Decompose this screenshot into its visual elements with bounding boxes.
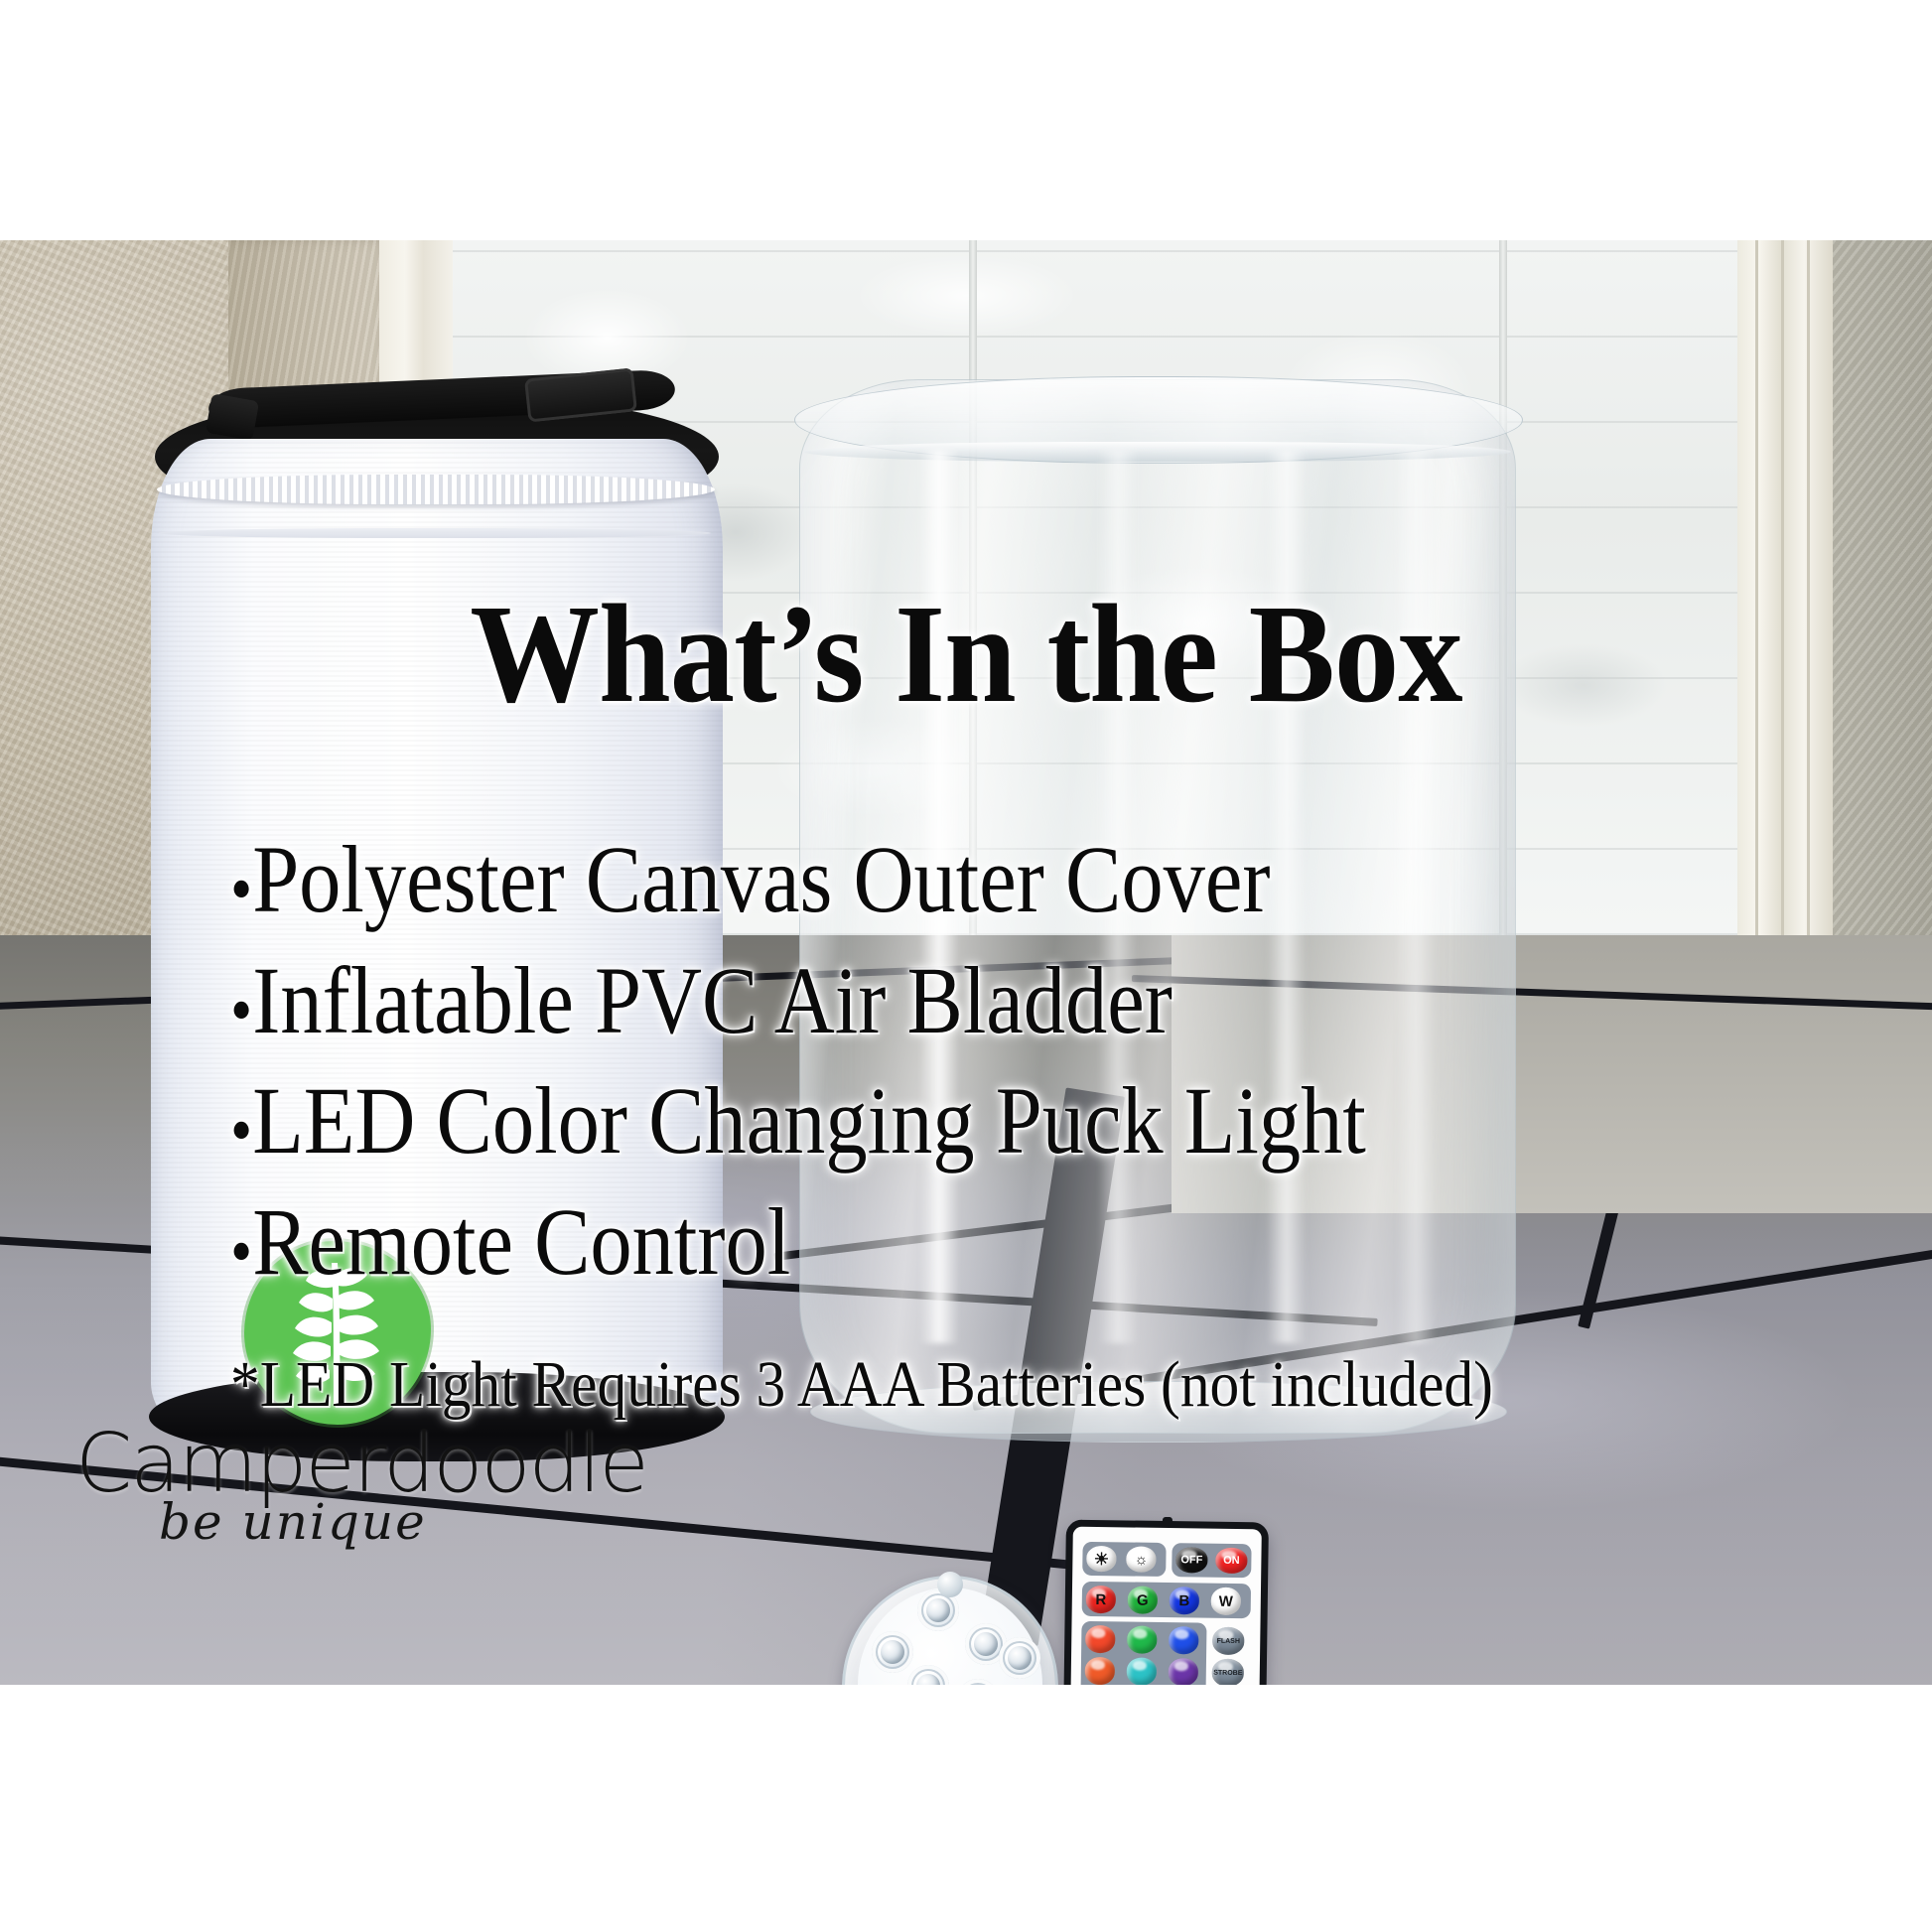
remote-button-color-1-0[interactable] bbox=[1085, 1657, 1115, 1685]
battery-footnote: *LED Light Requires 3 AAA Batteries (not… bbox=[230, 1352, 1660, 1418]
list-item: •Remote Control bbox=[230, 1188, 1593, 1296]
list-item: •LED Color Changing Puck Light bbox=[230, 1067, 1593, 1174]
remote-button-label: B bbox=[1170, 1587, 1199, 1614]
infographic-canvas: ☀☼OFFONRGBWFLASHSTROBEFADESMOOTH bbox=[0, 0, 1932, 1932]
remote-button-color-0-2[interactable] bbox=[1169, 1626, 1198, 1654]
button-gloss bbox=[1174, 1629, 1188, 1639]
button-gloss bbox=[1091, 1660, 1105, 1670]
ir-emitter-icon bbox=[1163, 1517, 1173, 1524]
remote-button-label: R bbox=[1086, 1586, 1116, 1613]
remote-button-on[interactable]: ON bbox=[1215, 1548, 1247, 1574]
list-item: •Inflatable PVC Air Bladder bbox=[230, 947, 1593, 1054]
remote-button-blue[interactable]: B bbox=[1170, 1587, 1199, 1614]
remote-button-label: OFF bbox=[1175, 1547, 1207, 1573]
list-item-label: Remote Control bbox=[252, 1188, 790, 1295]
remote-button-color-0-1[interactable] bbox=[1127, 1625, 1157, 1653]
remote-button-label: ☀ bbox=[1086, 1546, 1116, 1572]
list-item-label: Polyester Canvas Outer Cover bbox=[252, 826, 1270, 932]
remote-button-strobe[interactable]: STROBE bbox=[1212, 1659, 1244, 1685]
bullet-marker: • bbox=[230, 1091, 252, 1171]
remote-button-label: STROBE bbox=[1212, 1659, 1244, 1685]
product-photo: ☀☼OFFONRGBWFLASHSTROBEFADESMOOTH bbox=[0, 240, 1932, 1685]
remote-button-label: G bbox=[1128, 1586, 1158, 1613]
brand-tagline: be unique bbox=[159, 1493, 576, 1551]
ir-remote-control[interactable]: ☀☼OFFONRGBWFLASHSTROBEFADESMOOTH bbox=[1062, 1520, 1269, 1685]
remote-button-brightness-up[interactable]: ☀ bbox=[1086, 1546, 1116, 1572]
remote-button-label: ON bbox=[1215, 1548, 1247, 1574]
remote-button-white[interactable]: W bbox=[1211, 1587, 1241, 1615]
whats-in-the-box-list: •Polyester Canvas Outer Cover•Inflatable… bbox=[230, 826, 1779, 1309]
cooler-seam bbox=[159, 528, 711, 538]
remote-button-color-0-0[interactable] bbox=[1085, 1625, 1115, 1653]
button-gloss bbox=[1133, 1661, 1147, 1671]
remote-button-color-1-2[interactable] bbox=[1169, 1658, 1198, 1685]
led-lamp bbox=[907, 1665, 949, 1685]
led-lamp bbox=[999, 1637, 1040, 1679]
remote-button-green[interactable]: G bbox=[1128, 1586, 1158, 1613]
remote-button-off[interactable]: OFF bbox=[1175, 1547, 1207, 1573]
bullet-marker: • bbox=[230, 970, 252, 1049]
remote-button-label: W bbox=[1211, 1587, 1241, 1615]
remote-button-color-1-1[interactable] bbox=[1127, 1657, 1157, 1685]
list-item-label: Inflatable PVC Air Bladder bbox=[252, 947, 1173, 1053]
puck-nub bbox=[937, 1572, 963, 1597]
remote-button-red[interactable]: R bbox=[1086, 1586, 1116, 1613]
remote-button-brightness-down[interactable]: ☼ bbox=[1126, 1546, 1156, 1572]
cooler-zipper bbox=[157, 475, 715, 504]
remote-button-flash[interactable]: FLASH bbox=[1212, 1627, 1244, 1655]
remote-button-label: ☼ bbox=[1126, 1546, 1156, 1572]
bullet-marker: • bbox=[230, 1211, 252, 1291]
list-item: •Polyester Canvas Outer Cover bbox=[230, 826, 1593, 933]
remote-button-label: FLASH bbox=[1212, 1627, 1244, 1655]
button-gloss bbox=[1091, 1628, 1105, 1638]
page-title: What’s In the Box bbox=[77, 583, 1855, 724]
led-lamp bbox=[872, 1631, 913, 1673]
bullet-marker: • bbox=[230, 850, 252, 929]
led-puck-light bbox=[842, 1576, 1058, 1685]
button-gloss bbox=[1174, 1661, 1188, 1671]
strap-anchor bbox=[206, 393, 259, 441]
led-lamp bbox=[957, 1679, 999, 1685]
button-gloss bbox=[1133, 1629, 1147, 1639]
list-item-label: LED Color Changing Puck Light bbox=[252, 1067, 1366, 1173]
